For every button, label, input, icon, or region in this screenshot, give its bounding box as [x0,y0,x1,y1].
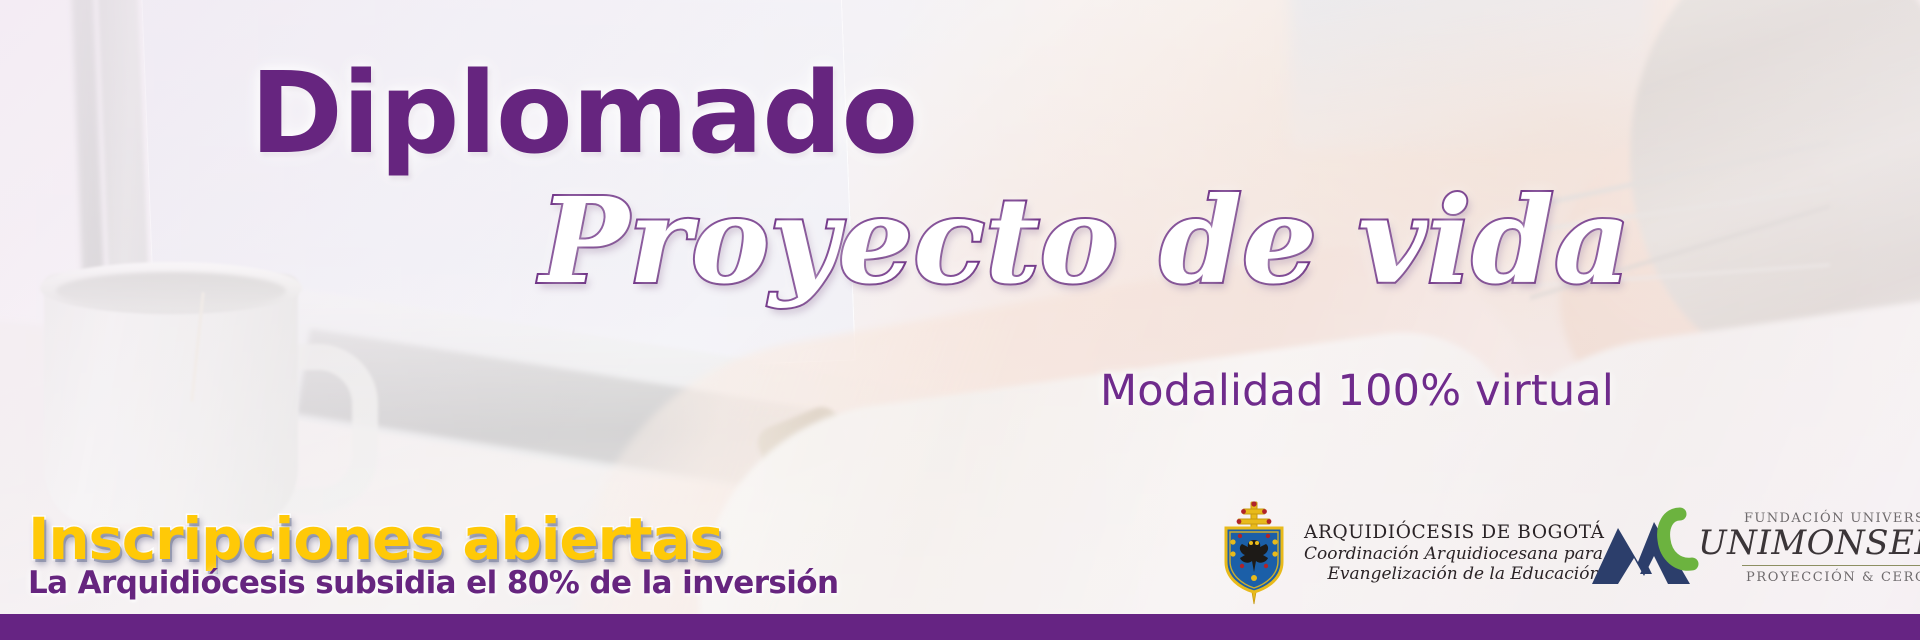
arquidiocesis-wordmark: ARQUIDIÓCESIS DE BOGOTÁ Coordinación Arq… [1304,522,1624,585]
unimonserrate-wordmark: FUNDACIÓN UNIVERSITARIA UNIMONSERRATE PR… [1698,511,1920,585]
program-name: Proyecto de vida [540,182,1630,300]
bottom-accent-bar [0,614,1920,640]
unimonserrate-logo[interactable]: FUNDACIÓN UNIVERSITARIA UNIMONSERRATE PR… [1588,500,1920,596]
banner-content: Diplomado Proyecto de vida Modalidad 100… [0,0,1920,640]
promo-banner: Diplomado Proyecto de vida Modalidad 100… [0,0,1920,640]
page-title: Diplomado [250,58,917,170]
arquidiocesis-line-2: Coordinación Arquidiocesana para la [1304,544,1624,564]
unimonserrate-divider [1742,565,1920,566]
unimonserrate-tagline: PROYECCIÓN & CERCANÍA [1746,570,1920,585]
subsidy-note: La Arquidiócesis subsidia el 80% de la i… [28,565,838,601]
coat-of-arms-shield-icon [1218,500,1290,606]
arquidiocesis-line-1: ARQUIDIÓCESIS DE BOGOTÁ [1304,522,1624,544]
enrollment-headline: Inscripciones abiertas [28,505,723,573]
arquidiocesis-line-3: Evangelización de la Educación [1304,564,1624,584]
unimonserrate-name: UNIMONSERRATE [1698,526,1920,560]
arquidiocesis-logo[interactable]: ARQUIDIÓCESIS DE BOGOTÁ Coordinación Arq… [1218,500,1624,606]
modality-subtitle: Modalidad 100% virtual [1100,366,1614,416]
